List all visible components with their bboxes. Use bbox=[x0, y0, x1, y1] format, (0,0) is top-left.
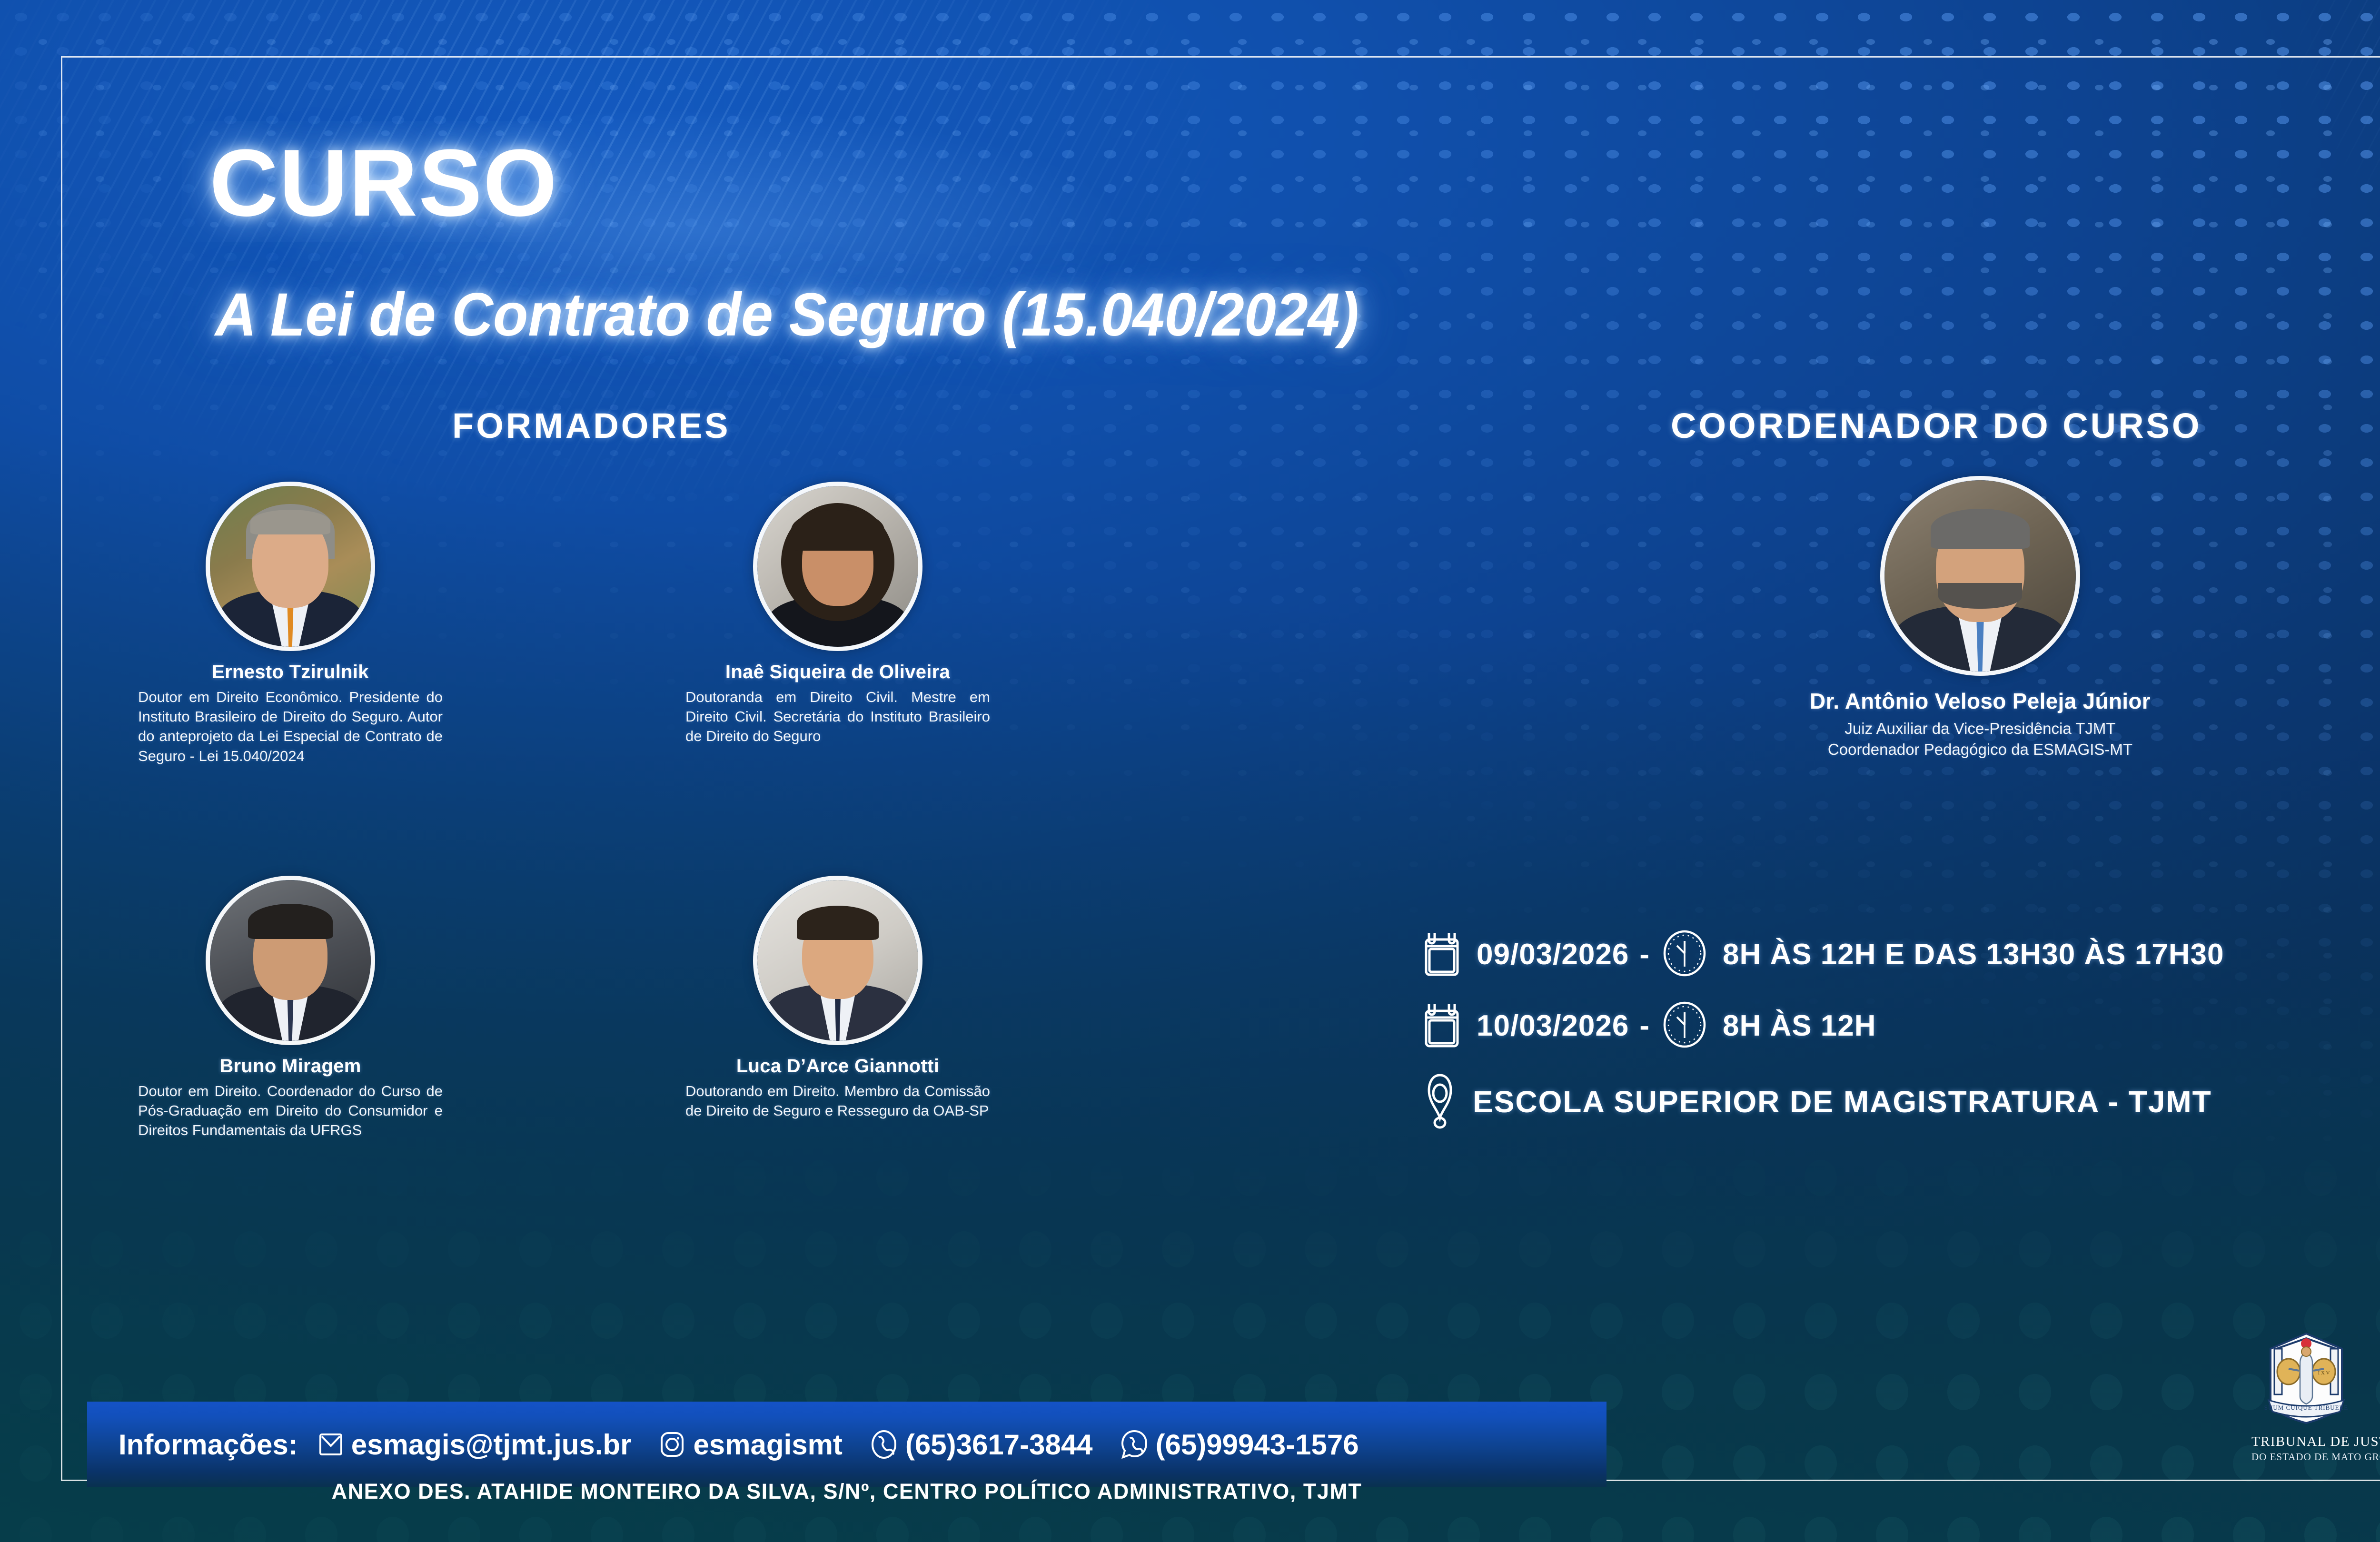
portrait-photo bbox=[1884, 480, 2076, 672]
formador-name: Bruno Miragem bbox=[138, 1056, 443, 1077]
coordenador-card: Dr. Antônio Veloso Peleja Júnior Juiz Au… bbox=[1695, 476, 2266, 760]
schedule-time: 8H ÀS 12H E DAS 13H30 ÀS 17H30 bbox=[1723, 938, 2224, 971]
instagram-text: esmagismt bbox=[693, 1428, 842, 1461]
whatsapp-icon bbox=[1121, 1430, 1148, 1459]
portrait-photo bbox=[757, 880, 918, 1041]
schedule-row: 10/03/2026 - 8H ÀS 12H bbox=[1423, 990, 2380, 1061]
schedule-separator: - bbox=[1639, 938, 1649, 971]
location-row: ESCOLA SUPERIOR DE MAGISTRATURA - TJMT bbox=[1423, 1061, 2380, 1142]
calendar-icon bbox=[1423, 929, 1460, 980]
portrait-photo bbox=[210, 880, 371, 1041]
formador-bio: Doutor em Direito. Coordenador do Curso … bbox=[138, 1081, 443, 1140]
phone-text: (65)3617-3844 bbox=[905, 1428, 1093, 1461]
formador-bio: Doutorando em Direito. Membro da Comissã… bbox=[685, 1081, 990, 1120]
instagram-icon bbox=[659, 1431, 685, 1458]
avatar bbox=[753, 482, 922, 651]
tjmt-coat-of-arms: I X V SUUM CUIQUE TRIBUERE bbox=[2251, 1328, 2361, 1428]
coordenador-name: Dr. Antônio Veloso Peleja Júnior bbox=[1695, 688, 2266, 714]
whatsapp-contact[interactable]: (65)99943-1576 bbox=[1121, 1428, 1359, 1461]
avatar bbox=[1880, 476, 2080, 676]
mail-icon bbox=[318, 1431, 344, 1458]
address-text: ANEXO DES. ATAHIDE MONTEIRO DA SILVA, S/… bbox=[87, 1479, 1606, 1504]
tjmt-motto: SUUM CUIQUE TRIBUERE bbox=[2264, 1404, 2349, 1411]
avatar bbox=[206, 482, 375, 651]
instagram-contact[interactable]: esmagismt bbox=[659, 1428, 842, 1461]
border-frame bbox=[61, 56, 2380, 1481]
coordenador-role-2: Coordenador Pedagógico da ESMAGIS-MT bbox=[1695, 739, 2266, 760]
formador-card: Ernesto Tzirulnik Doutor em Direito Econ… bbox=[138, 482, 443, 766]
tjmt-logo: I X V SUUM CUIQUE TRIBUERE TRIBUNAL DE J… bbox=[2251, 1328, 2361, 1463]
page-subtitle: A Lei de Contrato de Seguro (15.040/2024… bbox=[215, 280, 1359, 350]
clock-icon bbox=[1663, 929, 1706, 979]
calendar-icon bbox=[1423, 1000, 1460, 1051]
schedule-block: 09/03/2026 - 8H ÀS 12H E DAS 13H30 ÀS 17… bbox=[1423, 919, 2380, 1142]
location-text: ESCOLA SUPERIOR DE MAGISTRATURA - TJMT bbox=[1473, 1084, 2212, 1119]
formador-card: Inaê Siqueira de Oliveira Doutoranda em … bbox=[685, 482, 990, 746]
portrait-photo bbox=[757, 486, 918, 647]
avatar bbox=[206, 876, 375, 1045]
formador-name: Inaê Siqueira de Oliveira bbox=[685, 662, 990, 683]
formador-bio: Doutoranda em Direito Civil. Mestre em D… bbox=[685, 687, 990, 746]
map-pin-icon bbox=[1423, 1072, 1457, 1132]
phone-contact[interactable]: (65)3617-3844 bbox=[870, 1428, 1093, 1461]
schedule-date: 10/03/2026 bbox=[1477, 1009, 1629, 1043]
coordenador-role-1: Juiz Auxiliar da Vice-Presidência TJMT bbox=[1695, 718, 2266, 739]
clock-icon bbox=[1663, 1001, 1706, 1051]
contact-bar: Informações: esmagis@tjmt.jus.br esmagis… bbox=[87, 1402, 1606, 1487]
avatar bbox=[753, 876, 922, 1045]
schedule-time: 8H ÀS 12H bbox=[1723, 1009, 1876, 1043]
email-text: esmagis@tjmt.jus.br bbox=[351, 1428, 632, 1461]
contact-label: Informações: bbox=[119, 1428, 298, 1461]
tjmt-line-1: TRIBUNAL DE JUSTIÇA bbox=[2251, 1434, 2361, 1450]
formador-card: Luca D’Arce Giannotti Doutorando em Dire… bbox=[685, 876, 990, 1120]
formador-name: Ernesto Tzirulnik bbox=[138, 662, 443, 683]
logo-group: I X V SUUM CUIQUE TRIBUERE TRIBUNAL DE J… bbox=[2251, 1328, 2380, 1463]
formador-card: Bruno Miragem Doutor em Direito. Coorden… bbox=[138, 876, 443, 1140]
formadores-heading: FORMADORES bbox=[452, 405, 730, 446]
formador-name: Luca D’Arce Giannotti bbox=[685, 1056, 990, 1077]
portrait-photo bbox=[210, 486, 371, 647]
schedule-date: 09/03/2026 bbox=[1477, 938, 1629, 971]
schedule-separator: - bbox=[1639, 1009, 1649, 1043]
coordenador-heading: COORDENADOR DO CURSO bbox=[1671, 405, 2201, 446]
email-contact[interactable]: esmagis@tjmt.jus.br bbox=[318, 1428, 632, 1461]
svg-text:I X V: I X V bbox=[2318, 1370, 2330, 1376]
whatsapp-text: (65)99943-1576 bbox=[1156, 1428, 1359, 1461]
schedule-row: 09/03/2026 - 8H ÀS 12H E DAS 13H30 ÀS 17… bbox=[1423, 919, 2380, 990]
page-title: CURSO bbox=[209, 128, 558, 238]
tjmt-line-2: DO ESTADO DE MATO GROSSO bbox=[2251, 1451, 2361, 1463]
formador-bio: Doutor em Direito Econômico. Presidente … bbox=[138, 687, 443, 766]
phone-icon bbox=[870, 1430, 898, 1459]
